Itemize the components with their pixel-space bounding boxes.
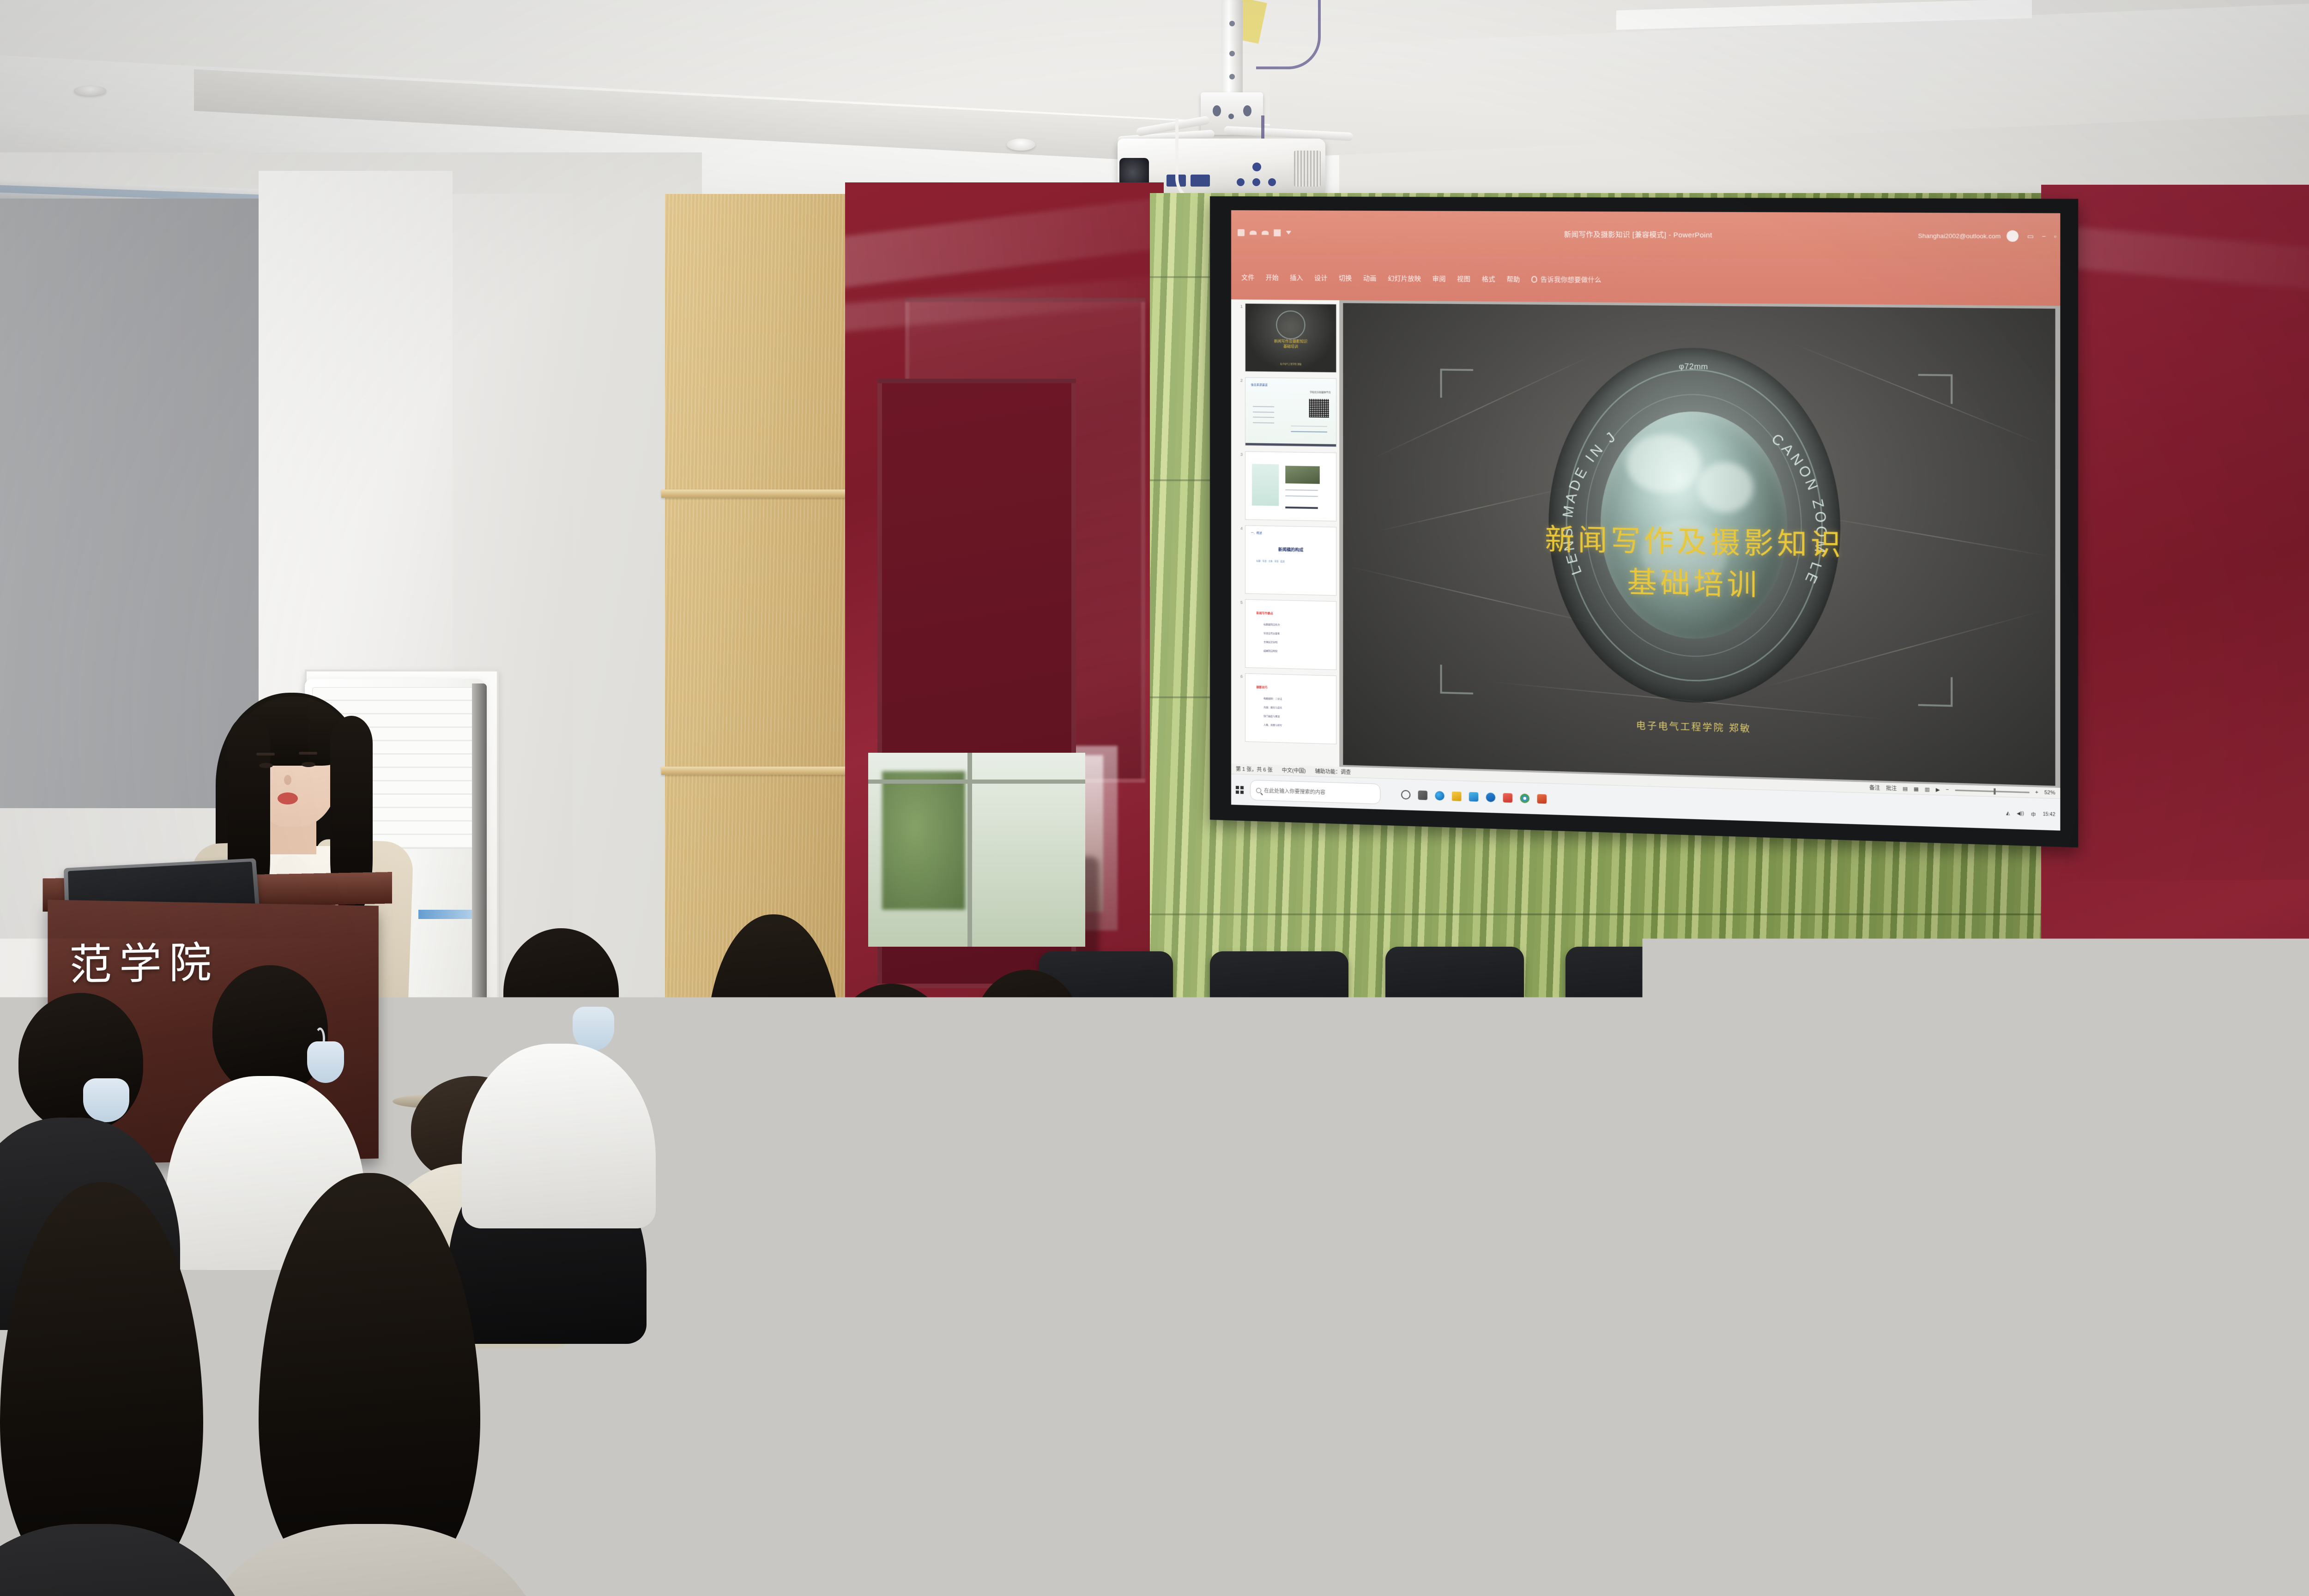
zoom-in-icon[interactable]: +	[2035, 790, 2038, 796]
lectern-engraving: 范学院	[69, 926, 356, 992]
smoke-detector-icon	[74, 85, 106, 96]
projector-power-button[interactable]	[1252, 163, 1261, 171]
face-mask	[573, 1007, 614, 1051]
tab-design[interactable]: 设计	[1314, 273, 1328, 282]
projection-screen-surface: 新闻写作及摄影知识 [兼容模式] - PowerPoint Shanghai20…	[1231, 210, 2060, 830]
zoom-out-icon[interactable]: −	[1946, 787, 1949, 793]
viewfinder-corner-icon	[1918, 677, 1953, 707]
tab-transitions[interactable]: 切换	[1339, 273, 1352, 282]
thumbnail-number: 1	[1239, 303, 1243, 308]
search-icon	[1256, 788, 1261, 793]
tab-home[interactable]: 开始	[1266, 272, 1279, 282]
window-buttons[interactable]: ▭ − ▫	[2027, 232, 2056, 241]
thumbnail-number: 4	[1239, 525, 1243, 531]
jacket-text: LaRVa	[1981, 1298, 2052, 1324]
thumbnail-heading: 新闻写作要点	[1256, 611, 1273, 615]
tab-format[interactable]: 格式	[1482, 274, 1495, 283]
thumbnail-tag: 一、概述	[1251, 531, 1262, 535]
minimize-icon[interactable]: −	[2042, 232, 2046, 241]
restore-icon[interactable]: ▫	[2054, 232, 2056, 241]
thumbnail-green-panel	[1252, 464, 1279, 506]
viewfinder-corner-icon	[1440, 369, 1474, 398]
thumbnail-number: 2	[1239, 377, 1243, 383]
jacket-text: Makin	[2170, 1275, 2207, 1288]
viewfinder-corner-icon	[1440, 665, 1474, 695]
accessibility-status[interactable]: 辅助功能：调查	[1315, 768, 1351, 776]
volume-icon[interactable]: ◀))	[2017, 811, 2024, 816]
comments-button[interactable]: 批注	[1886, 784, 1897, 792]
chrome-icon[interactable]	[1520, 793, 1530, 803]
thumbnail-note: 学校官方新媒体平台	[1310, 391, 1330, 394]
mask-ear-loop-icon	[939, 1051, 949, 1073]
tab-review[interactable]: 审阅	[1433, 274, 1446, 283]
hair-tie	[1852, 1021, 1879, 1039]
thumbnail-number: 5	[1239, 599, 1243, 605]
qr-code-icon	[1309, 399, 1329, 418]
thumbnail-heading: 信息来源渠道	[1251, 382, 1268, 387]
thumbnail-heading: 摄影技巧	[1256, 684, 1267, 689]
current-slide[interactable]: φ72mm	[1343, 303, 2055, 786]
lightbulb-icon	[1531, 276, 1537, 282]
tab-insert[interactable]: 插入	[1290, 273, 1303, 282]
thumbnail-item[interactable]: 3	[1239, 451, 1336, 521]
smoke-detector-icon	[1007, 139, 1035, 151]
edge-icon[interactable]	[1435, 791, 1444, 801]
thumbnail-bullet: 结尾简洁明快	[1263, 649, 1277, 653]
wood-panel-divider	[661, 767, 854, 775]
tell-me-label: 告诉我你想要做什么	[1541, 274, 1602, 284]
mask-ear-loop-icon	[1933, 1071, 1943, 1094]
slide-title[interactable]: 新闻写作及摄影知识 基础培训	[1343, 515, 2055, 612]
thumbnail-heading: 新闻稿的构成	[1245, 546, 1336, 554]
thumbnail-slide-1[interactable]: 新闻写作及摄影知识基础培训 电子电气工程学院 郑敏	[1245, 303, 1336, 372]
presenter-mouth	[278, 792, 298, 804]
tab-help[interactable]: 帮助	[1506, 274, 1520, 284]
viewfinder-corner-icon	[1918, 374, 1953, 404]
background-window	[868, 753, 1085, 947]
account-name[interactable]: Shanghai2002@outlook.com	[1918, 232, 2001, 240]
thumbnail-bullet: 人像、场景与特写	[1263, 723, 1282, 727]
thumbnail-number: 3	[1239, 451, 1243, 457]
tab-slideshow[interactable]: 幻灯片放映	[1388, 273, 1421, 283]
thumbnail-bullet: 光线：顺光与逆光	[1263, 706, 1282, 709]
network-icon[interactable]: ◭	[2006, 810, 2010, 816]
ribbon-tabs[interactable]: 文件 开始 插入 设计 切换 动画 幻灯片放映 审阅 视图 格式 帮助 告诉我你…	[1231, 255, 2060, 306]
thumbnail-bullet: 导语交代五要素	[1263, 632, 1280, 635]
thumbnail-slide-2[interactable]: 信息来源渠道 学校官方新媒体平台	[1245, 377, 1336, 447]
cortana-icon[interactable]	[1401, 790, 1410, 800]
thumbnail-item[interactable]: 4 一、概述 新闻稿的构成 标题 · 导语 · 主体 · 背景 · 结语	[1239, 525, 1336, 596]
thumbnail-bullet: 快门速度与景深	[1263, 714, 1280, 718]
tell-me-box[interactable]: 告诉我你想要做什么	[1531, 274, 1601, 284]
wood-panel-divider	[661, 490, 854, 498]
tab-file[interactable]: 文件	[1241, 272, 1254, 282]
projector-vent-icon	[1294, 151, 1321, 187]
zoom-level[interactable]: 52%	[2044, 790, 2055, 796]
slide-thumbnail-panel[interactable]: 1 新闻写作及摄影知识基础培训 电子电气工程学院 郑敏 2 信息来源渠道	[1231, 299, 1340, 767]
view-normal-icon[interactable]: ▤	[1903, 786, 1908, 792]
thumbnail-number: 6	[1239, 673, 1243, 678]
taskbar-pinned-apps[interactable]	[1401, 790, 1547, 804]
taskbar-search-box[interactable]: 在此处输入你要搜索的内容	[1250, 780, 1380, 804]
projector-mount-rod	[1221, 0, 1243, 99]
thumbnail-bullet: 构图规则：三分法	[1263, 697, 1282, 701]
taskbar-system-tray[interactable]: ◭ ◀)) 中 15:42	[2006, 810, 2055, 818]
thumbnail-bullet: 标题要简洁有力	[1263, 623, 1280, 627]
powerpoint-window[interactable]: 新闻写作及摄影知识 [兼容模式] - PowerPoint Shanghai20…	[1231, 210, 2060, 830]
tab-animations[interactable]: 动画	[1363, 273, 1377, 283]
view-slideshow-icon[interactable]: ▶	[1936, 786, 1940, 793]
powerpoint-titlebar: 新闻写作及摄影知识 [兼容模式] - PowerPoint Shanghai20…	[1231, 210, 2060, 260]
face-mask	[83, 1078, 129, 1122]
explorer-icon[interactable]	[1452, 792, 1461, 801]
ime-icon[interactable]: 中	[2031, 810, 2036, 818]
thumbnail-title: 新闻写作及摄影知识基础培训	[1253, 339, 1329, 350]
store-icon[interactable]	[1469, 792, 1478, 802]
thumbnail-slide-4[interactable]: 一、概述 新闻稿的构成 标题 · 导语 · 主体 · 背景 · 结语	[1245, 525, 1336, 595]
task-view-icon[interactable]	[1418, 791, 1427, 800]
powerpoint-body: 1 新闻写作及摄影知识基础培训 电子电气工程学院 郑敏 2 信息来源渠道	[1231, 299, 2060, 788]
search-placeholder: 在此处输入你要搜索的内容	[1264, 787, 1325, 796]
projection-screen-frame: 新闻写作及摄影知识 [兼容模式] - PowerPoint Shanghai20…	[1210, 196, 2078, 847]
thumbnail-photo	[1285, 465, 1320, 484]
thumbnail-item[interactable]: 5 新闻写作要点 标题要简洁有力 导语交代五要素 主体层次分明 结尾简洁明快	[1239, 599, 1336, 670]
thumbnail-subline: 标题 · 导语 · 主体 · 背景 · 结语	[1256, 560, 1325, 564]
ribbon-options-icon[interactable]: ▭	[2027, 232, 2034, 241]
face-mask	[307, 1041, 344, 1083]
tab-view[interactable]: 视图	[1457, 274, 1470, 283]
jacket-text: BLARARAS	[2217, 1321, 2276, 1333]
thumbnail-item[interactable]: 1 新闻写作及摄影知识基础培训 电子电气工程学院 郑敏	[1239, 303, 1336, 372]
notes-button[interactable]: 备注	[1869, 784, 1880, 792]
view-sorter-icon[interactable]: ▦	[1914, 786, 1919, 792]
thumbnail-slide-3[interactable]	[1245, 451, 1336, 521]
language-indicator[interactable]: 中文(中国)	[1282, 767, 1306, 775]
zoom-slider[interactable]	[1955, 789, 2029, 793]
powerpoint-icon[interactable]	[1537, 794, 1547, 804]
office-icon[interactable]	[1503, 793, 1513, 803]
projector-power-cable	[1175, 118, 1208, 203]
start-button-icon[interactable]	[1236, 786, 1244, 794]
slide-editing-stage[interactable]: φ72mm	[1340, 300, 2061, 788]
thumbnail-slide-5[interactable]: 新闻写作要点 标题要简洁有力 导语交代五要素 主体层次分明 结尾简洁明快	[1245, 599, 1336, 670]
thumbnail-bullet: 主体层次分明	[1263, 641, 1277, 644]
thumbnail-item[interactable]: 6 摄影技巧 构图规则：三分法 光线：顺光与逆光 快门速度与景深 人像、场景与特…	[1239, 673, 1336, 744]
lens-icon	[1276, 311, 1306, 339]
ceiling-wire	[1256, 0, 1321, 69]
taskbar-clock[interactable]: 15:42	[2043, 811, 2055, 817]
slide-counter: 第 1 张，共 6 张	[1236, 765, 1273, 774]
thumbnail-item[interactable]: 2 信息来源渠道 学校官方新媒体平台	[1239, 377, 1336, 447]
lecture-hall-photo: 新闻写作及摄影知识 [兼容模式] - PowerPoint Shanghai20…	[0, 0, 2309, 1596]
thumbnail-slide-6[interactable]: 摄影技巧 构图规则：三分法 光线：顺光与逆光 快门速度与景深 人像、场景与特写	[1245, 673, 1336, 744]
view-reading-icon[interactable]: ▥	[1925, 786, 1930, 792]
jacket-badge-icon	[2097, 1298, 2125, 1326]
mail-icon[interactable]	[1486, 792, 1495, 802]
thumbnail-subtitle: 电子电气工程学院 郑敏	[1245, 363, 1336, 366]
